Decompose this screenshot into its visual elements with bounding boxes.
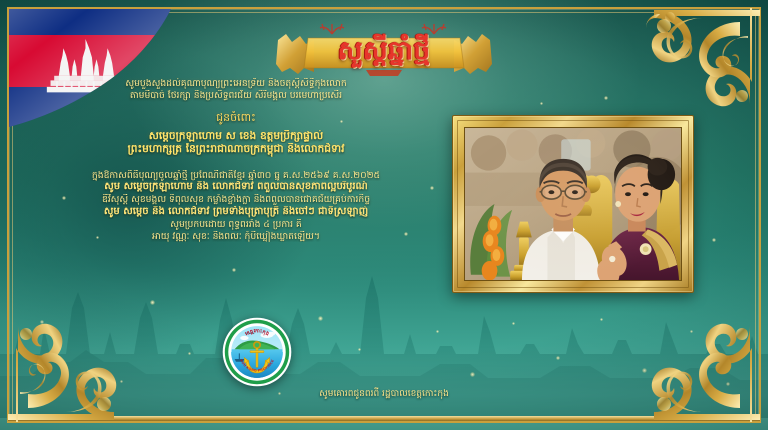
- card-bottom-gold-band: [8, 416, 760, 421]
- corner-ornament-top-right-icon: [642, 8, 760, 108]
- body-line-4: សូម សម្ដេច និង លោកជំទាវ ព្រមទាំងបុត្រាបុ…: [24, 206, 448, 219]
- title-banner: សួស្ដីឆ្នាំថ្មី: [268, 12, 500, 84]
- new-year-greeting-card: សួស្ដីឆ្នាំថ្មី សូមបួងសួងដល់គុណាបុណ្យព្រ…: [0, 0, 768, 430]
- body-line-5: សូមប្រកបដោយ ពុទ្ធពររាំង ៤ ប្រការ គឺ: [24, 219, 448, 231]
- body-line-2: សូម សម្ដេចក្រឡាហោម និង លោកជំទាវ ពពួលបានស…: [24, 181, 448, 194]
- honoree-line-2: ព្រះមហាក្សត្រ នៃព្រះរាជាណាចក្រកម្ពុជា និ…: [24, 143, 448, 157]
- greeting-line-2: តាមមីបាច់ ថែរក្សា និងប្រសិទ្ធពរជ័យ សិរីម…: [24, 90, 448, 102]
- corner-ornament-bottom-right-icon: [642, 322, 760, 422]
- body-line-6: អាយុ វណ្ណៈ សុខៈ និងពលៈ កុំបីឃ្លៀងឃ្លាតឡើ…: [24, 231, 448, 243]
- dedication-label: ជូនចំពោះ: [24, 111, 448, 125]
- koh-kong-province-seal-icon: ខេត្តកោះកុង KOH KONG PROVINCE: [222, 317, 292, 387]
- portrait-photo: [464, 127, 682, 281]
- portrait-photo-frame: [452, 115, 694, 293]
- greeting-text-block: សូមបួងសួងដល់គុណាបុណ្យព្រះអេនទ្រ័យ និងចតុ…: [24, 78, 448, 242]
- body-line-1: ក្នុងឱកាសពិធីបុណ្យចូលឆ្នាំថ្មី ប្រពៃណីជា…: [24, 170, 448, 182]
- greeting-line-1: សូមបួងសួងដល់គុណាបុណ្យព្រះអេនទ្រ័យ និងចតុ…: [24, 78, 448, 90]
- corner-ornament-bottom-left-icon: [8, 322, 126, 422]
- body-line-3: ឌីវីសុស្ដី សុខមង្គល ទិពុលសុខ កម្លាំងខ្លា…: [24, 194, 448, 206]
- honoree-line-1: សម្ដេចក្រឡាហោម ស ខេង ឧត្តមប្រឹក្សាផ្ទាល់: [24, 130, 448, 144]
- title-banner-wrap: សួស្ដីឆ្នាំថ្មី: [0, 12, 768, 84]
- page-title: សួស្ដីឆ្នាំថ្មី: [268, 34, 500, 72]
- footer-credit: សូមគោរពជូនពរពី រដ្ឋបាលខេត្តកោះកុង: [0, 388, 768, 401]
